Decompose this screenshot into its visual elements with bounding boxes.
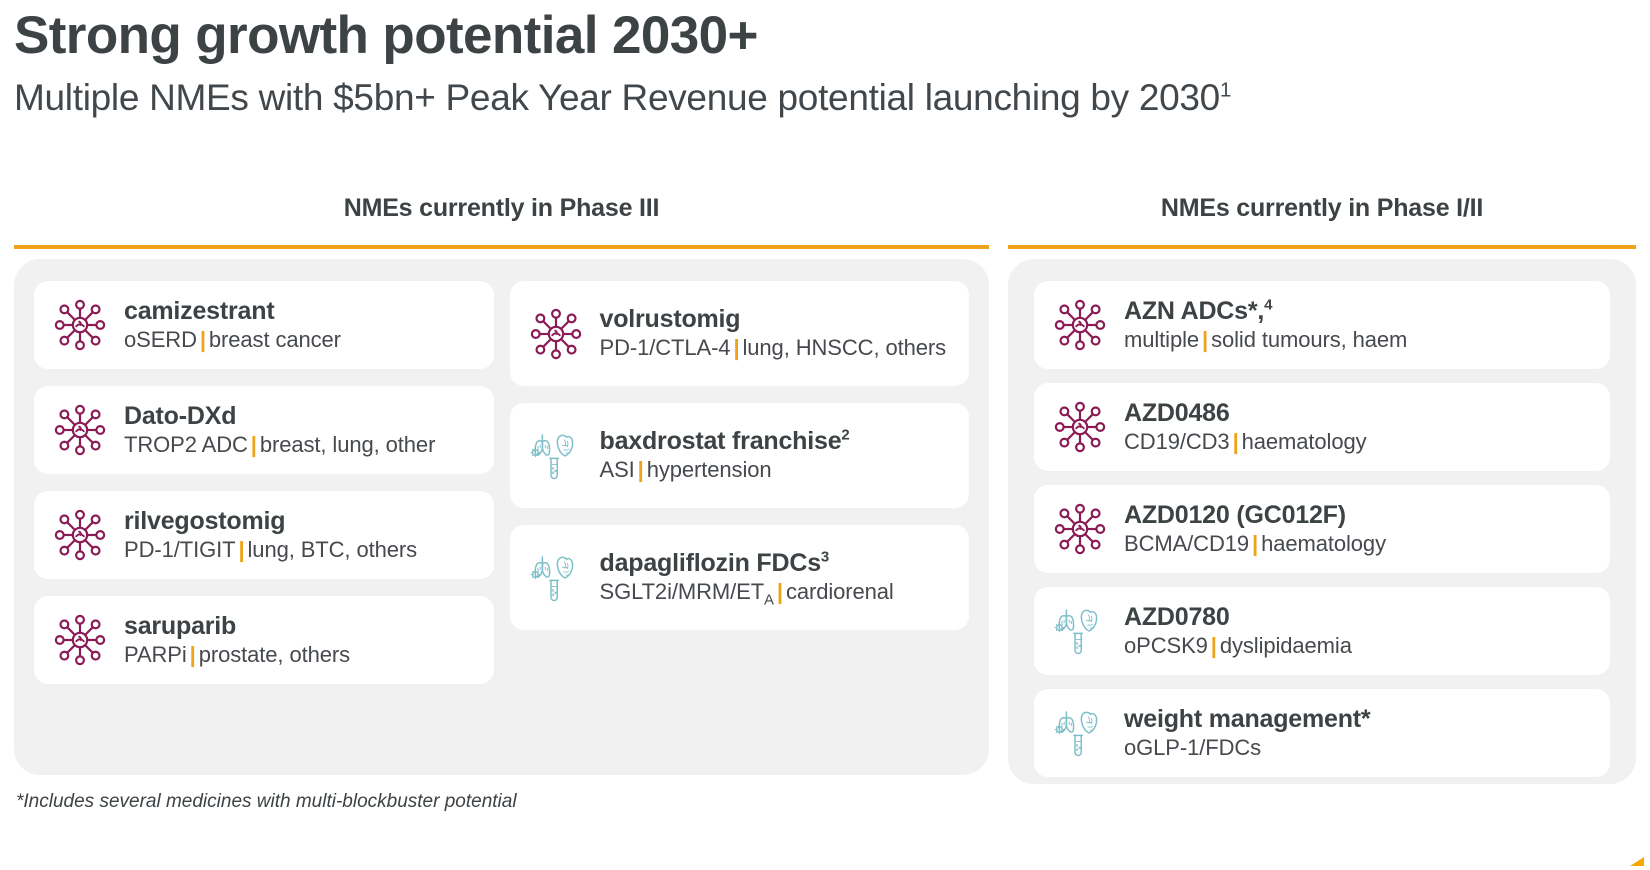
medicine-mechanism-subscript: A bbox=[764, 592, 774, 609]
oncology-molecule-icon bbox=[1052, 297, 1108, 353]
medicine-detail: multiple|solid tumours, haem bbox=[1124, 327, 1407, 353]
page-title: Strong growth potential 2030+ bbox=[14, 8, 1634, 64]
medicine-detail: CD19/CD3|haematology bbox=[1124, 429, 1367, 455]
biopharma-lungs-heart-vial-icon bbox=[528, 428, 584, 484]
column-spacer bbox=[510, 647, 970, 753]
biopharma-lungs-heart-vial-icon bbox=[1052, 603, 1108, 659]
medicine-name-superscript: 4 bbox=[1264, 296, 1272, 313]
detail-separator-icon: | bbox=[197, 327, 209, 352]
column-rule-phase12 bbox=[1008, 245, 1636, 249]
medicine-name-text: Dato-DXd bbox=[124, 402, 236, 430]
oncology-molecule-icon bbox=[53, 298, 107, 352]
oncology-molecule-icon bbox=[53, 508, 107, 562]
medicine-card-text: dapagliflozin FDCs3SGLT2i/MRM/ETA|cardio… bbox=[600, 549, 894, 605]
medicine-mechanism: oSERD bbox=[124, 327, 197, 352]
medicine-name-text: AZD0486 bbox=[1124, 399, 1230, 427]
medicine-detail: PARPi|prostate, others bbox=[124, 642, 350, 668]
medicine-card-text: AZN ADCs*,4multiple|solid tumours, haem bbox=[1124, 297, 1407, 353]
footnote: *Includes several medicines with multi-b… bbox=[16, 791, 517, 813]
medicine-card-text: saruparibPARPi|prostate, others bbox=[124, 612, 350, 668]
corner-accent-mark bbox=[1630, 857, 1644, 866]
medicine-card[interactable]: AZD0120 (GC012F)BCMA/CD19|haematology bbox=[1034, 485, 1610, 573]
medicine-name-text: saruparib bbox=[124, 612, 236, 640]
medicine-name-text: baxdrostat franchise bbox=[600, 427, 842, 455]
medicine-name-text: volrustomig bbox=[600, 305, 741, 333]
detail-separator-icon: | bbox=[635, 457, 647, 482]
medicine-card-text: AZD0486CD19/CD3|haematology bbox=[1124, 399, 1367, 455]
biopharma-lungs-heart-vial-icon bbox=[528, 428, 584, 484]
medicine-card[interactable]: AZD0486CD19/CD3|haematology bbox=[1034, 383, 1610, 471]
medicine-name: rilvegostomig bbox=[124, 507, 417, 535]
medicine-card-text: baxdrostat franchise2ASI|hypertension bbox=[600, 427, 850, 483]
phase3-column-1: camizestrantoSERD|breast cancer Dato-DXd… bbox=[34, 281, 494, 753]
medicine-mechanism-prefix: SGLT2i/MRM/ET bbox=[600, 579, 765, 604]
medicine-card-text: weight management*oGLP-1/FDCs bbox=[1124, 705, 1370, 761]
medicine-card-text: camizestrantoSERD|breast cancer bbox=[124, 297, 341, 353]
phase3-panel: camizestrantoSERD|breast cancer Dato-DXd… bbox=[14, 259, 989, 775]
medicine-mechanism: BCMA/CD19 bbox=[1124, 531, 1249, 556]
medicine-detail: oPCSK9|dyslipidaemia bbox=[1124, 633, 1352, 659]
oncology-molecule-icon bbox=[1053, 400, 1107, 454]
oncology-molecule-icon bbox=[53, 403, 107, 457]
medicine-name-text: dapagliflozin FDCs bbox=[600, 549, 821, 577]
medicine-name: camizestrant bbox=[124, 297, 341, 325]
medicine-indication: cardiorenal bbox=[786, 579, 894, 604]
medicine-name: AZD0120 (GC012F) bbox=[1124, 501, 1386, 529]
medicine-mechanism: oPCSK9 bbox=[1124, 633, 1208, 658]
medicine-card-text: volrustomigPD-1/CTLA-4|lung, HNSCC, othe… bbox=[600, 305, 947, 361]
biopharma-lungs-heart-vial-icon bbox=[1052, 705, 1108, 761]
medicine-name: baxdrostat franchise2 bbox=[600, 427, 850, 455]
medicine-card[interactable]: rilvegostomigPD-1/TIGIT|lung, BTC, other… bbox=[34, 491, 494, 579]
column-header-phase12: NMEs currently in Phase I/II bbox=[1008, 194, 1636, 223]
medicine-name-text: AZD0120 (GC012F) bbox=[1124, 501, 1346, 529]
oncology-molecule-icon bbox=[1052, 501, 1108, 557]
medicine-card[interactable]: saruparibPARPi|prostate, others bbox=[34, 596, 494, 684]
medicine-name: AZN ADCs*,4 bbox=[1124, 297, 1407, 325]
medicine-indication: dyslipidaemia bbox=[1220, 633, 1352, 658]
medicine-mechanism: CD19/CD3 bbox=[1124, 429, 1230, 454]
medicine-indication: lung, BTC, others bbox=[248, 537, 418, 562]
detail-separator-icon: | bbox=[730, 335, 742, 360]
medicine-mechanism: SGLT2i/MRM/ETA bbox=[600, 579, 774, 604]
medicine-mechanism: PD-1/TIGIT bbox=[124, 537, 235, 562]
medicine-mechanism: PARPi bbox=[124, 642, 187, 667]
medicine-name: AZD0486 bbox=[1124, 399, 1367, 427]
medicine-detail: ASI|hypertension bbox=[600, 457, 850, 483]
biopharma-lungs-heart-vial-icon bbox=[1052, 603, 1108, 659]
medicine-indication: prostate, others bbox=[199, 642, 350, 667]
detail-separator-icon: | bbox=[1208, 633, 1220, 658]
medicine-name-superscript: 2 bbox=[841, 427, 849, 444]
detail-separator-icon: | bbox=[774, 579, 786, 604]
medicine-card[interactable]: camizestrantoSERD|breast cancer bbox=[34, 281, 494, 369]
oncology-molecule-icon bbox=[52, 297, 108, 353]
medicine-indication: haematology bbox=[1261, 531, 1386, 556]
medicine-mechanism: TROP2 ADC bbox=[124, 432, 248, 457]
medicine-indication: hypertension bbox=[647, 457, 772, 482]
medicine-name: saruparib bbox=[124, 612, 350, 640]
medicine-name: dapagliflozin FDCs3 bbox=[600, 549, 894, 577]
column-rule-phase3 bbox=[14, 245, 989, 249]
medicine-card[interactable]: dapagliflozin FDCs3SGLT2i/MRM/ETA|cardio… bbox=[510, 525, 970, 630]
column-header-phase3: NMEs currently in Phase III bbox=[14, 194, 989, 223]
phase3-column-2: volrustomigPD-1/CTLA-4|lung, HNSCC, othe… bbox=[510, 281, 970, 753]
medicine-card[interactable]: Dato-DXdTROP2 ADC|breast, lung, other bbox=[34, 386, 494, 474]
medicine-mechanism: ASI bbox=[600, 457, 635, 482]
oncology-molecule-icon bbox=[1053, 298, 1107, 352]
oncology-molecule-icon bbox=[52, 402, 108, 458]
medicine-detail: TROP2 ADC|breast, lung, other bbox=[124, 432, 435, 458]
medicine-detail: oGLP-1/FDCs bbox=[1124, 735, 1370, 761]
medicine-card[interactable]: baxdrostat franchise2ASI|hypertension bbox=[510, 403, 970, 508]
oncology-molecule-icon bbox=[529, 307, 583, 361]
detail-separator-icon: | bbox=[1249, 531, 1261, 556]
medicine-detail: oSERD|breast cancer bbox=[124, 327, 341, 353]
medicine-name-text: AZD0780 bbox=[1124, 603, 1230, 631]
medicine-name: volrustomig bbox=[600, 305, 947, 333]
medicine-name-superscript: 3 bbox=[821, 549, 829, 566]
page-subtitle-text: Multiple NMEs with $5bn+ Peak Year Reven… bbox=[14, 77, 1220, 118]
detail-separator-icon: | bbox=[235, 537, 247, 562]
biopharma-lungs-heart-vial-icon bbox=[1052, 705, 1108, 761]
medicine-name: AZD0780 bbox=[1124, 603, 1352, 631]
page-subtitle: Multiple NMEs with $5bn+ Peak Year Reven… bbox=[14, 78, 1634, 118]
medicine-mechanism: multiple bbox=[1124, 327, 1199, 352]
medicine-name: weight management* bbox=[1124, 705, 1370, 733]
detail-separator-icon: | bbox=[248, 432, 260, 457]
medicine-card[interactable]: AZN ADCs*,4multiple|solid tumours, haem bbox=[1034, 281, 1610, 369]
oncology-molecule-icon bbox=[52, 507, 108, 563]
medicine-mechanism: oGLP-1/FDCs bbox=[1124, 735, 1261, 760]
oncology-molecule-icon bbox=[52, 612, 108, 668]
medicine-detail: BCMA/CD19|haematology bbox=[1124, 531, 1386, 557]
medicine-detail: SGLT2i/MRM/ETA|cardiorenal bbox=[600, 579, 894, 605]
biopharma-lungs-heart-vial-icon bbox=[528, 550, 584, 606]
slide-header: Strong growth potential 2030+ Multiple N… bbox=[14, 8, 1634, 118]
page-subtitle-superscript: 1 bbox=[1220, 79, 1231, 101]
medicine-detail: PD-1/TIGIT|lung, BTC, others bbox=[124, 537, 417, 563]
detail-separator-icon: | bbox=[187, 642, 199, 667]
medicine-card-text: AZD0120 (GC012F)BCMA/CD19|haematology bbox=[1124, 501, 1386, 557]
medicine-card-text: AZD0780oPCSK9|dyslipidaemia bbox=[1124, 603, 1352, 659]
medicine-indication: breast cancer bbox=[209, 327, 341, 352]
biopharma-lungs-heart-vial-icon bbox=[528, 550, 584, 606]
phase12-column: AZN ADCs*,4multiple|solid tumours, haem … bbox=[1034, 281, 1610, 762]
medicine-indication: haematology bbox=[1242, 429, 1367, 454]
medicine-detail: PD-1/CTLA-4|lung, HNSCC, others bbox=[600, 335, 947, 361]
phase12-panel: AZN ADCs*,4multiple|solid tumours, haem … bbox=[1008, 259, 1636, 784]
detail-separator-icon: | bbox=[1230, 429, 1242, 454]
medicine-card-text: Dato-DXdTROP2 ADC|breast, lung, other bbox=[124, 402, 435, 458]
medicine-card[interactable]: AZD0780oPCSK9|dyslipidaemia bbox=[1034, 587, 1610, 675]
oncology-molecule-icon bbox=[1052, 399, 1108, 455]
oncology-molecule-icon bbox=[528, 306, 584, 362]
medicine-mechanism: PD-1/CTLA-4 bbox=[600, 335, 731, 360]
medicine-name-text: camizestrant bbox=[124, 297, 274, 325]
medicine-card[interactable]: volrustomigPD-1/CTLA-4|lung, HNSCC, othe… bbox=[510, 281, 970, 386]
medicine-card[interactable]: weight management*oGLP-1/FDCs bbox=[1034, 689, 1610, 777]
oncology-molecule-icon bbox=[1053, 502, 1107, 556]
medicine-name-text: weight management* bbox=[1124, 705, 1370, 733]
medicine-indication: lung, HNSCC, others bbox=[743, 335, 947, 360]
medicine-name-text: AZN ADCs*, bbox=[1124, 297, 1264, 325]
medicine-name: Dato-DXd bbox=[124, 402, 435, 430]
medicine-indication: solid tumours, haem bbox=[1211, 327, 1407, 352]
medicine-card-text: rilvegostomigPD-1/TIGIT|lung, BTC, other… bbox=[124, 507, 417, 563]
oncology-molecule-icon bbox=[53, 613, 107, 667]
medicine-name-text: rilvegostomig bbox=[124, 507, 285, 535]
medicine-indication: breast, lung, other bbox=[260, 432, 435, 457]
detail-separator-icon: | bbox=[1199, 327, 1211, 352]
